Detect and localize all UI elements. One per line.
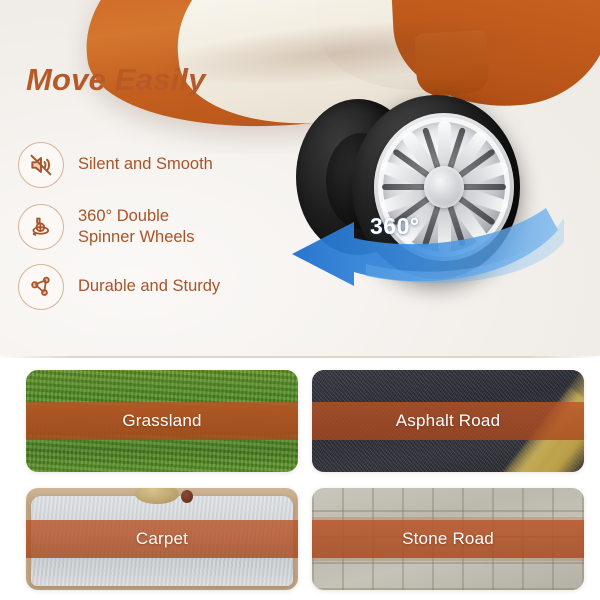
surface-tile-grassland: Grassland: [26, 370, 298, 472]
badge-360: 360°: [370, 213, 420, 240]
feature-label-silent: Silent and Smooth: [78, 154, 213, 175]
feature-item-silent: Silent and Smooth: [18, 142, 278, 188]
feature-label-spinner-line2: Spinner Wheels: [78, 228, 194, 246]
surface-label-band: Stone Road: [312, 520, 584, 558]
share-nodes-icon: [18, 264, 64, 310]
surface-tile-stone-road: Stone Road: [312, 488, 584, 590]
surface-label-band: Carpet: [26, 520, 298, 558]
surface-tile-asphalt-road: Asphalt Road: [312, 370, 584, 472]
spinner-wheel-icon: [18, 204, 64, 250]
surface-label-stone-road: Stone Road: [402, 529, 494, 549]
page-title: Move Easily: [26, 62, 206, 98]
surface-tile-carpet: Carpet: [26, 488, 298, 590]
feature-label-spinner-line1: 360° Double: [78, 207, 169, 225]
feature-label-spinner: 360° Double Spinner Wheels: [78, 206, 194, 248]
surface-label-asphalt-road: Asphalt Road: [396, 411, 500, 431]
top-section: 360° Move Easily Silent and Smooth: [0, 0, 600, 356]
surface-label-grassland: Grassland: [122, 411, 201, 431]
feature-label-durable: Durable and Sturdy: [78, 276, 220, 297]
surface-grid: Grassland Asphalt Road Carpet: [0, 358, 600, 600]
mute-speaker-icon: [18, 142, 64, 188]
decor-ball: [181, 490, 193, 503]
feature-list: Silent and Smooth 360°: [18, 142, 278, 326]
surface-label-carpet: Carpet: [136, 529, 188, 549]
surface-label-band: Grassland: [26, 402, 298, 440]
surface-label-band: Asphalt Road: [312, 402, 584, 440]
product-feature-graphic: 360° Move Easily Silent and Smooth: [0, 0, 600, 600]
feature-item-spinner: 360° Double Spinner Wheels: [18, 204, 278, 250]
feature-item-durable: Durable and Sturdy: [18, 264, 278, 310]
